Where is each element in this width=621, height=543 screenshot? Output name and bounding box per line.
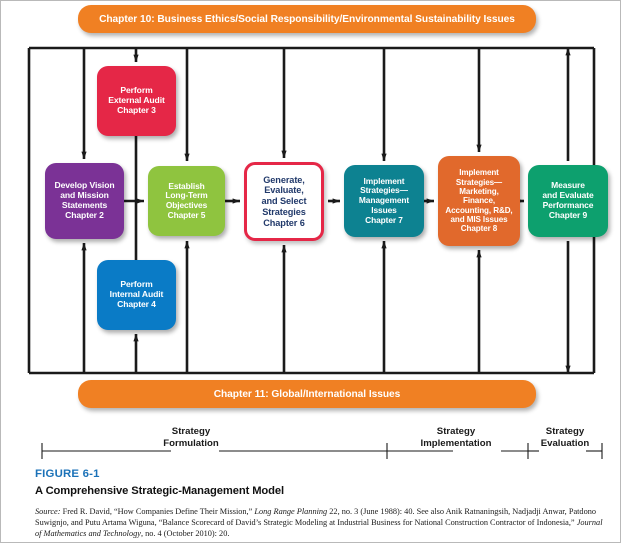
node-measure-evaluate-performance[interactable]: Measureand EvaluatePerformanceChapter 9 [528,165,608,237]
phase-label-strategy-evaluation: Strategy Evaluation [521,426,609,449]
node-implement-strategies-management[interactable]: ImplementStrategies—ManagementIssuesChap… [344,165,424,237]
phase-formulation-line1: Strategy [106,426,276,438]
node-generate-evaluate-select-strategies[interactable]: Generate,Evaluate,and SelectStrategiesCh… [244,162,324,241]
caption-block: FIGURE 6-1 A Comprehensive Strategic-Man… [35,468,605,539]
phase-evaluation-line2: Evaluation [521,438,609,450]
phase-evaluation-line1: Strategy [521,426,609,438]
figure-number: FIGURE 6-1 [35,468,605,480]
source-prefix: Source: [35,507,61,516]
node-perform-external-audit[interactable]: PerformExternal AuditChapter 3 [97,66,176,136]
figure-title: A Comprehensive Strategic-Management Mod… [35,485,605,497]
node-implement-strategies-marketing[interactable]: ImplementStrategies—Marketing,Finance,Ac… [438,156,520,246]
node-perform-internal-audit[interactable]: PerformInternal AuditChapter 4 [97,260,176,330]
figure-frame: Chapter 10: Business Ethics/Social Respo… [0,0,621,543]
source-note: Source: Fred R. David, “How Companies De… [35,506,609,539]
strategic-management-diagram: Chapter 10: Business Ethics/Social Respo… [1,1,621,421]
source-journal-1: Long Range Planning [254,507,327,516]
banner-chapter-10[interactable]: Chapter 10: Business Ethics/Social Respo… [78,5,536,33]
node-develop-vision-mission[interactable]: Develop Visionand MissionStatementsChapt… [45,163,124,239]
banner-chapter-11[interactable]: Chapter 11: Global/International Issues [78,380,536,408]
phase-label-strategy-formulation: Strategy Formulation [106,426,276,449]
source-text-c: , no. 4 (October 2010): 20. [141,529,229,538]
phase-label-strategy-implementation: Strategy Implementation [391,426,521,449]
source-text-a: Fred R. David, “How Companies Define The… [61,507,255,516]
phase-scale: Strategy Formulation Strategy Implementa… [1,425,621,465]
phase-implementation-line2: Implementation [391,438,521,450]
phase-formulation-line2: Formulation [106,438,276,450]
phase-implementation-line1: Strategy [391,426,521,438]
node-establish-long-term-objectives[interactable]: EstablishLong-TermObjectivesChapter 5 [148,166,225,236]
